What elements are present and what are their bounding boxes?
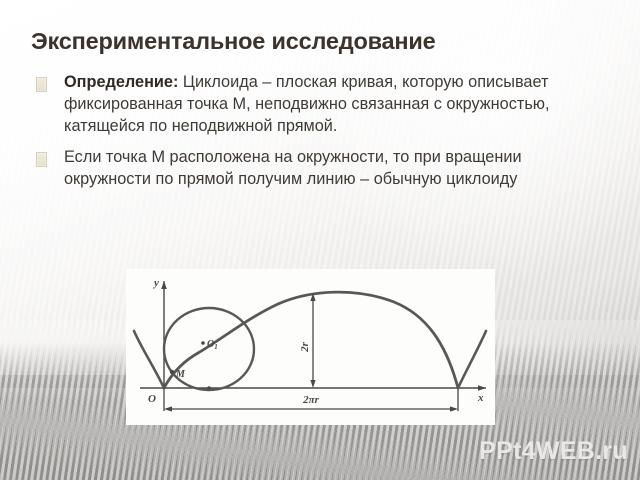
slide-content: Экспериментальное исследование Определен…	[0, 0, 640, 480]
circle-center-marker	[201, 341, 205, 345]
square-bullet-icon	[36, 152, 47, 167]
bullet-text: Определение: Циклоида – плоская кривая, …	[64, 72, 611, 138]
height-measure-2r	[310, 293, 315, 388]
cycloid-diagram: y x O M O1 2r 2πr	[126, 269, 495, 425]
point-m-marker	[170, 370, 174, 374]
point-a-marker	[207, 386, 211, 390]
label-x-axis: x	[477, 392, 484, 404]
label-period-2pir: 2πr	[302, 394, 320, 406]
cycloid-curve-next-arch	[458, 331, 486, 388]
label-origin: O	[148, 393, 156, 405]
watermark: PPt4WEB.ru	[479, 437, 628, 466]
bullet-list: Определение: Циклоида – плоская кривая, …	[36, 72, 611, 200]
bullet-body-text: Если точка М расположена на окружности, …	[64, 148, 522, 188]
list-item: Если точка М расположена на окружности, …	[36, 147, 611, 191]
slide-title: Экспериментальное исследование	[31, 29, 611, 55]
bullet-text: Если точка М расположена на окружности, …	[64, 147, 611, 191]
label-point-m: M	[175, 369, 186, 380]
list-item: Определение: Циклоида – плоская кривая, …	[36, 72, 611, 138]
square-bullet-icon	[36, 77, 47, 92]
presentation-slide: Экспериментальное исследование Определен…	[0, 0, 640, 480]
label-y-axis: y	[152, 277, 159, 289]
label-height-2r: 2r	[299, 341, 311, 353]
bullet-lead-label: Определение:	[64, 73, 178, 91]
cycloid-curve-previous-arch	[134, 331, 164, 388]
